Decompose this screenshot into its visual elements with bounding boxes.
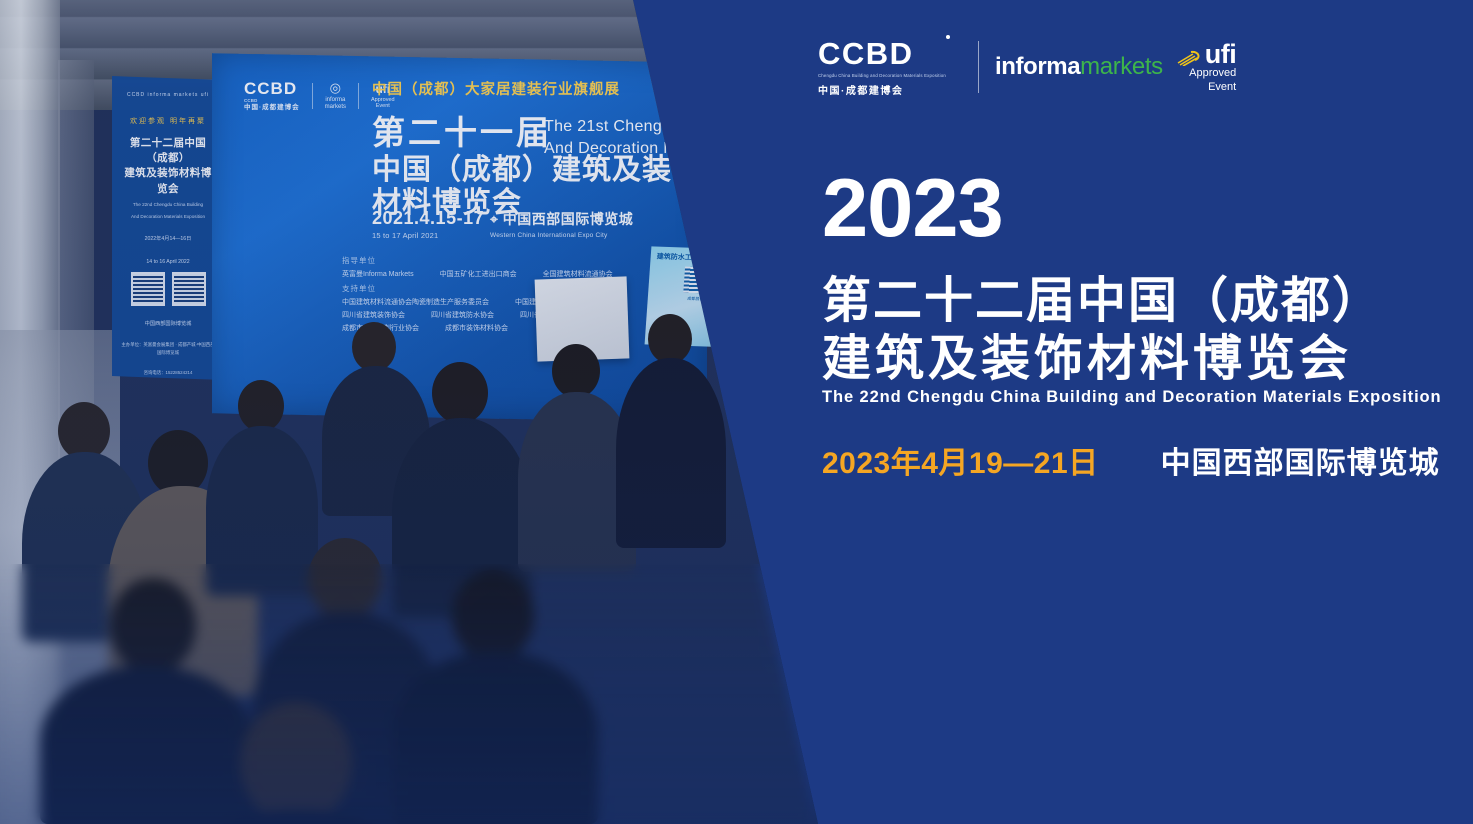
visitor-body [392, 652, 598, 824]
visitor-body [40, 666, 254, 824]
ccbd-wordmark: CCBD [818, 38, 946, 69]
markets-word: markets [1080, 53, 1163, 80]
backdrop-date-main: 2021.4.15-17 [372, 208, 484, 228]
visitor-head [648, 314, 692, 364]
informa-label-1: informa [325, 97, 345, 103]
ccbd-en-sub: CCBD [244, 99, 300, 103]
ufi-swoosh-icon [1177, 50, 1203, 66]
ufi-event-label: Event [1177, 81, 1237, 93]
exhibition-poster: CCBD informa markets ufi 欢迎参观 明年再聚 第二十二届… [0, 0, 1473, 824]
informa-word: informa [995, 53, 1080, 80]
event-venue: 中国西部国际博览城 [1161, 438, 1440, 482]
visitor-body [616, 358, 726, 548]
ufi-approved-event-logo: ufi Approved Event [1177, 42, 1237, 93]
backdrop-title-en: The 21st Chengdu And Decoration M [544, 116, 680, 159]
org-heading-1: 指导单位 [342, 254, 692, 268]
backdrop-title-cn-1: 第二十一届 [372, 114, 552, 152]
event-photo: CCBD informa markets ufi 欢迎参观 明年再聚 第二十二届… [0, 0, 840, 824]
ufi-wordmark: ufi [1205, 42, 1237, 66]
photo-background: CCBD informa markets ufi 欢迎参观 明年再聚 第二十二届… [0, 0, 840, 824]
logo-divider [312, 83, 313, 109]
ccbd-logo: CCBD Chengdu China Building and Decorati… [818, 38, 962, 97]
rollup-tagline: 欢迎参观 明年再聚 [120, 116, 216, 126]
visitor-head [552, 344, 600, 398]
backdrop-title-en-1: The 21st Chengdu [544, 118, 680, 135]
informa-markets-logo: informamarkets [995, 55, 1163, 79]
backdrop-title-en-2: And Decoration M [544, 140, 677, 157]
rollup-title-line2: 建筑及装饰材料博览会 [120, 166, 216, 196]
rollup-en-line2: And Decoration Materials Exposition [120, 214, 216, 221]
event-year: 2023 [822, 166, 1003, 249]
visitor-head [352, 322, 396, 372]
brand-header: CCBD Chengdu China Building and Decorati… [818, 38, 1236, 97]
event-title-cn-line2: 建筑及装饰材料博览会 [822, 333, 1352, 387]
ufi-approved-label: Approved [1177, 67, 1237, 79]
visitor-head [238, 380, 284, 432]
backdrop-venue: ⌖ 中国西部国际博览城 Western China International … [490, 209, 633, 239]
backdrop-date: 2021.4.15-17 15 to 17 April 2021 [372, 208, 484, 240]
event-meta: 2023年4月19—21日 中国西部国际博览城 [822, 438, 1440, 482]
event-date: 2023年4月19—21日 [822, 438, 1099, 482]
ufi-sub-2: Event [376, 103, 390, 109]
ccbd-dot-icon [946, 35, 950, 39]
ccbd-text: CCBD [818, 36, 914, 71]
informa-markets-logo-icon: ◎ informa markets [325, 80, 346, 111]
backdrop-date-en: 15 to 17 April 2021 [372, 231, 484, 240]
visitor-crowd [0, 270, 840, 824]
ccbd-wordmark: CCBD [244, 79, 297, 98]
rollup-date-cn: 2022年4月14—16日 [120, 235, 216, 244]
brand-divider [978, 41, 979, 93]
booth-sign-title: 建筑防水工 [650, 246, 746, 264]
ufi-top-row: ufi [1177, 42, 1237, 66]
ccbd-english-sub: Chengdu China Building and Decoration Ma… [818, 73, 946, 79]
informa-circle-icon: ◎ [325, 80, 346, 96]
ccbd-logo-icon: CCBD CCBD 中国·成都建博会 [244, 80, 300, 112]
backdrop-tagline: 中国（成都）大家居建装行业旗舰展 [372, 78, 620, 99]
logo-divider [358, 83, 359, 109]
backdrop-venue-en: Western China International Expo City [490, 232, 633, 239]
rollup-title-line1: 第二十二届中国（成都） [120, 136, 216, 166]
visitor-head [432, 362, 488, 424]
location-pin-icon: ⌖ [490, 211, 498, 227]
visitor-body [206, 426, 318, 596]
ccbd-chinese-sub: 中国·成都建博会 [818, 82, 946, 97]
visitor-head [110, 578, 196, 674]
event-title-en: The 22nd Chengdu China Building and Deco… [822, 388, 1442, 407]
visitor-head [308, 538, 382, 620]
informa-label-2: markets [325, 104, 346, 110]
event-title-cn-line1: 第二十二届中国（成都） [822, 275, 1383, 329]
backdrop-venue-cn: 中国西部国际博览城 [503, 211, 634, 227]
rollup-en-line1: The 22nd Chengdu China Building [120, 202, 216, 209]
rollup-date-en: 14 to 16 April 2022 [120, 258, 216, 267]
info-panel: CCBD Chengdu China Building and Decorati… [818, 0, 1473, 824]
visitor-head [240, 702, 352, 824]
rollup-logos: CCBD informa markets ufi [120, 92, 216, 98]
visitor-head [452, 570, 534, 662]
ccbd-cn-sub: 中国·成都建博会 [244, 105, 300, 112]
